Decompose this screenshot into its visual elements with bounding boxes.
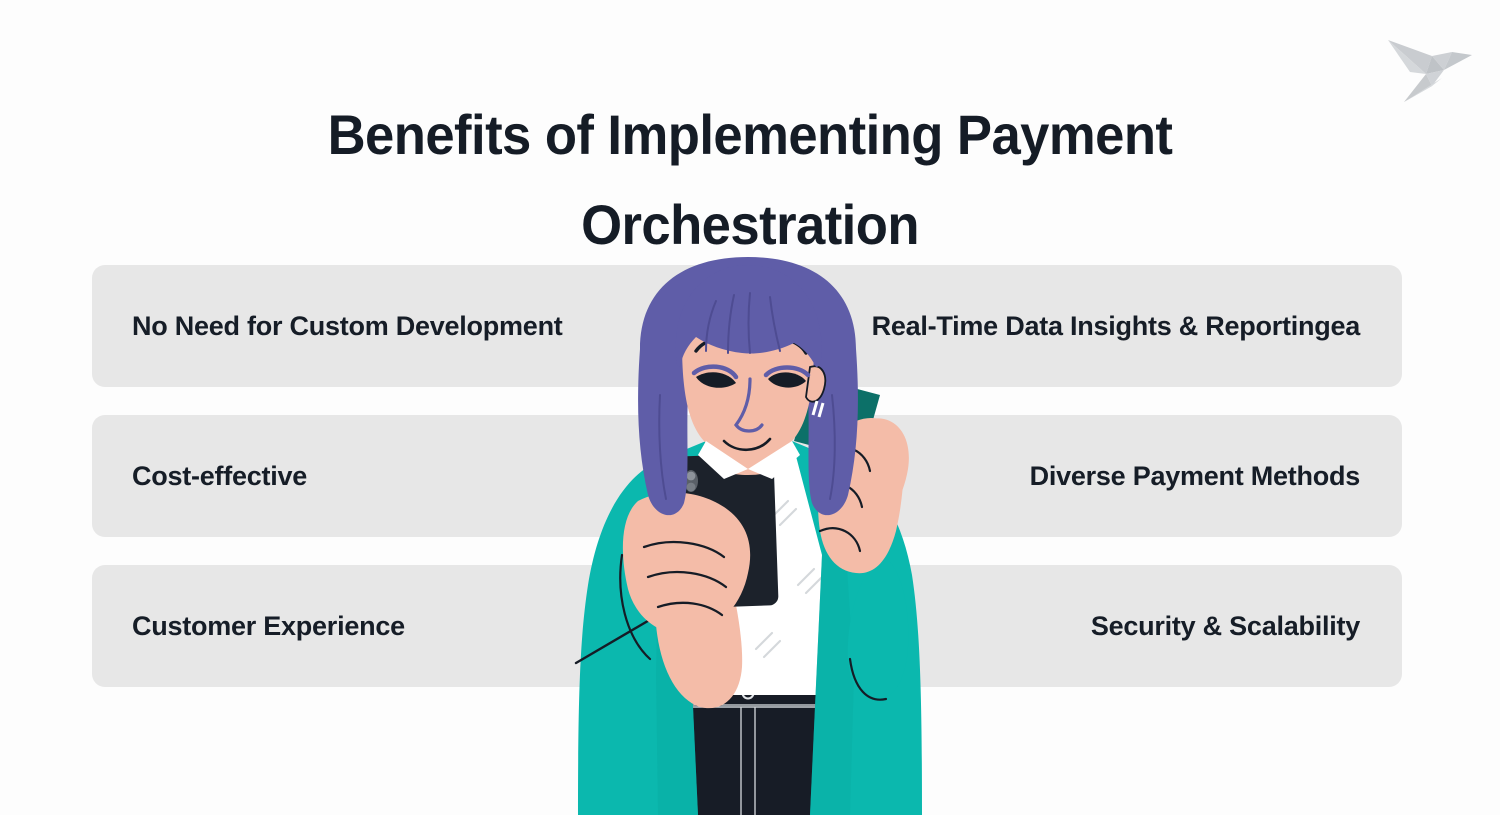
- benefit-label-no-need-for-custom-development: No Need for Custom Development: [132, 311, 563, 342]
- benefit-pill-left-2[interactable]: Cost-effective: [92, 415, 732, 537]
- benefit-pill-right-3[interactable]: Security & Scalability: [760, 565, 1402, 687]
- benefit-label-customer-experience: Customer Experience: [132, 611, 405, 642]
- page-title: Benefits of Implementing Payment Orchest…: [242, 90, 1257, 271]
- benefit-pill-right-2[interactable]: Diverse Payment Methods: [760, 415, 1402, 537]
- benefit-label-cost-effective: Cost-effective: [132, 461, 307, 492]
- benefit-label-diverse-payment-methods: Diverse Payment Methods: [1030, 461, 1360, 492]
- benefit-label-security-and-scalability: Security & Scalability: [1091, 611, 1360, 642]
- benefit-pill-left-3[interactable]: Customer Experience: [92, 565, 732, 687]
- origami-bird-icon: [1388, 40, 1472, 102]
- benefit-label-real-time-data-insights: Real-Time Data Insights & Reportingea: [872, 311, 1360, 342]
- trousers: [678, 683, 824, 815]
- infographic-canvas: Benefits of Implementing Payment Orchest…: [0, 0, 1500, 815]
- origami-bird-logo: [1380, 22, 1480, 112]
- benefit-pill-left-1[interactable]: No Need for Custom Development: [92, 265, 732, 387]
- benefit-pill-right-1[interactable]: Real-Time Data Insights & Reportingea: [760, 265, 1402, 387]
